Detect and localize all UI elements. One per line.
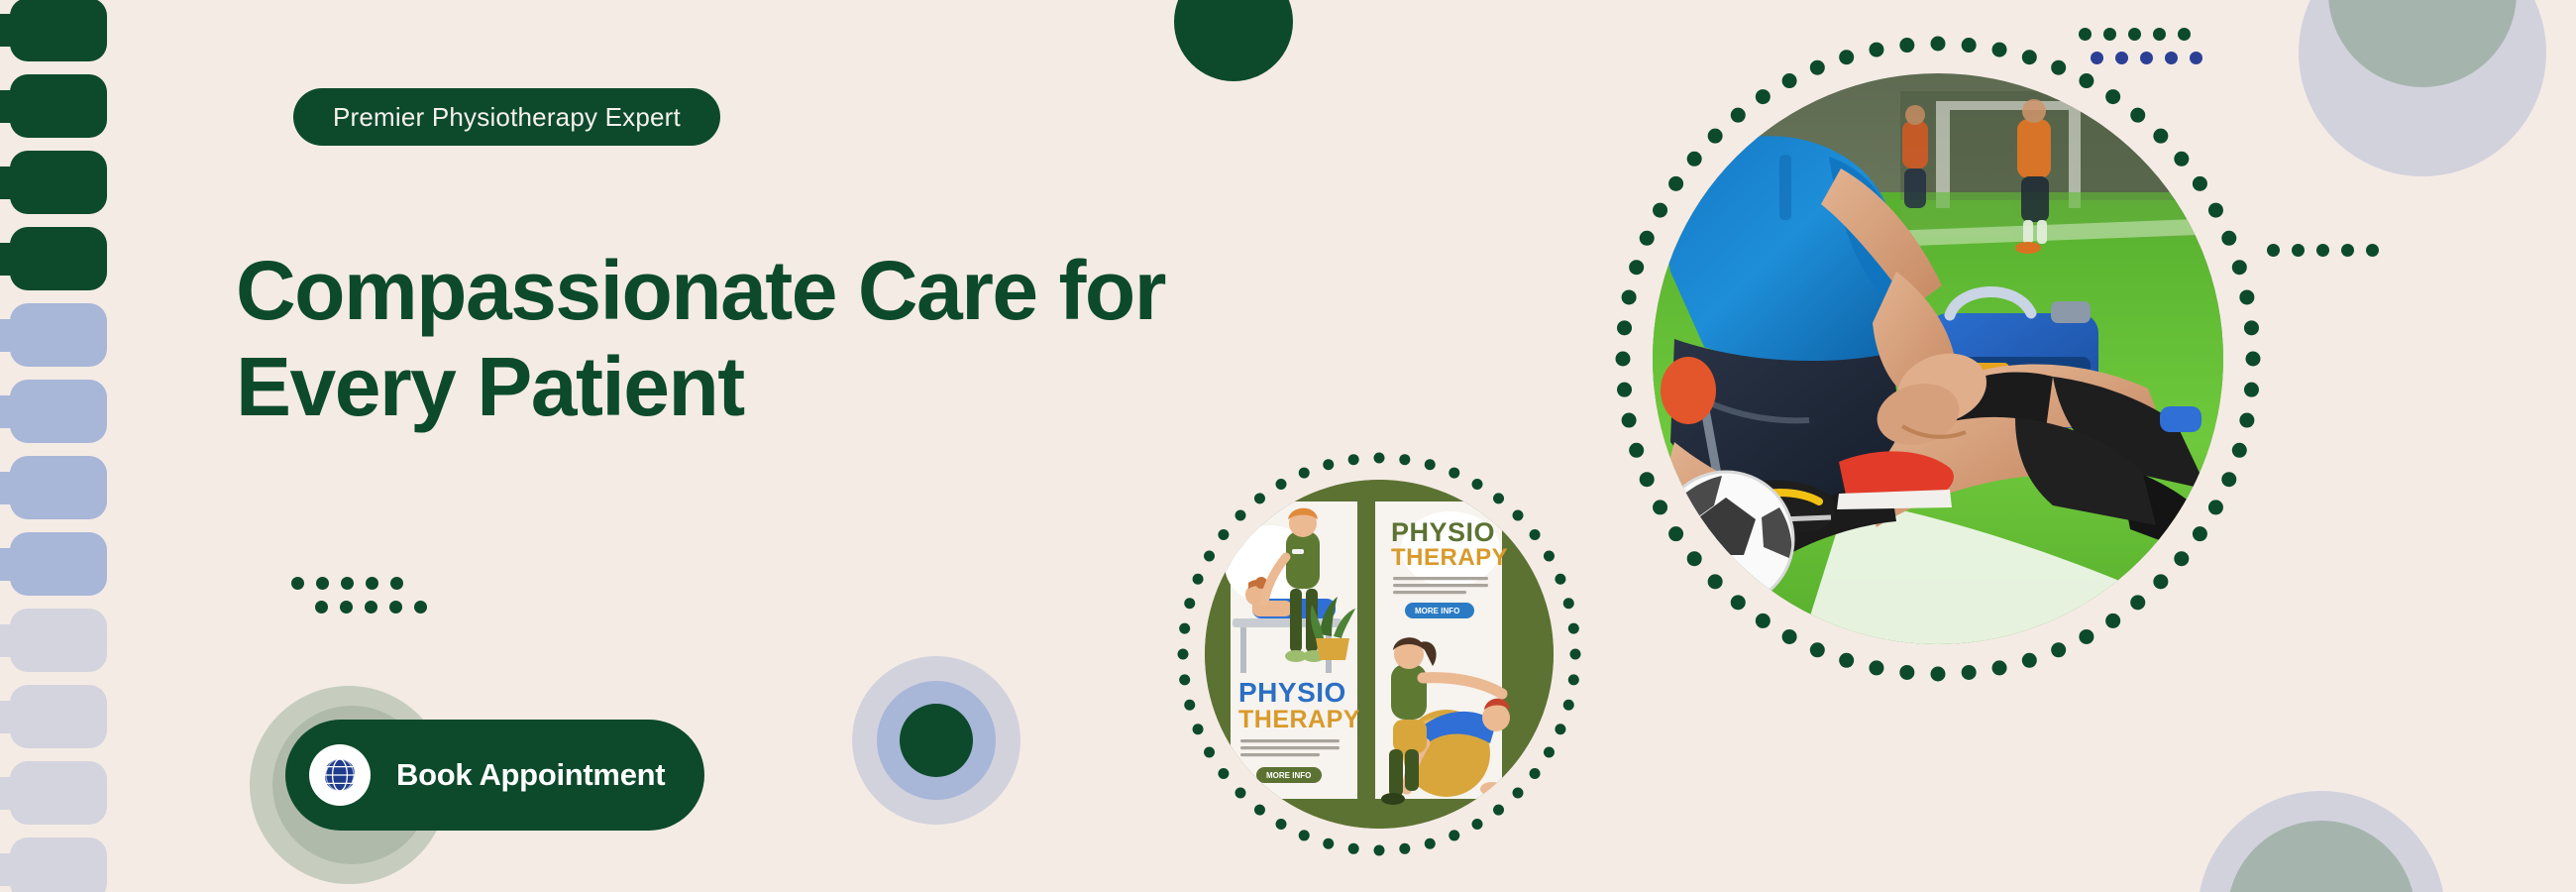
- dot-row: [291, 577, 403, 590]
- dot: [340, 601, 353, 613]
- dot: [390, 577, 403, 590]
- headline-line-1: Compassionate Care for: [236, 243, 1276, 339]
- dot: [2140, 52, 2153, 64]
- vertebra-segment: [0, 679, 107, 755]
- photo-small-image: PHYSIO THERAPY MORE INFO PHYSIO THERAP: [1205, 480, 1554, 829]
- vertebra-segment: [0, 526, 107, 603]
- vertebra-segment: [0, 297, 107, 374]
- dot: [2316, 244, 2329, 257]
- svg-text:THERAPY: THERAPY: [1391, 544, 1508, 571]
- hero-banner: Premier Physiotherapy Expert Compassiona…: [0, 0, 2576, 892]
- book-appointment-button[interactable]: Book Appointment: [285, 720, 704, 831]
- badge-label: Premier Physiotherapy Expert: [333, 102, 681, 133]
- dot: [291, 577, 304, 590]
- globe-icon: [309, 744, 371, 806]
- vertebra-segment: [0, 450, 107, 526]
- vertebra-segment: [0, 68, 107, 145]
- dot: [2190, 52, 2202, 64]
- dot: [2091, 52, 2103, 64]
- eyebrow-badge: Premier Physiotherapy Expert: [293, 88, 720, 146]
- dot: [2115, 52, 2128, 64]
- cta-label: Book Appointment: [396, 757, 665, 793]
- dot-row: [2267, 244, 2379, 257]
- vertebra-segment: [0, 832, 107, 892]
- vertebra-segment: [0, 603, 107, 679]
- vertebra-segment: [0, 221, 107, 297]
- photo-sports-physiotherapy: [1601, 22, 2275, 696]
- dot: [2267, 244, 2280, 257]
- svg-text:MORE INFO: MORE INFO: [1415, 607, 1459, 615]
- vertebra-segment: [0, 374, 107, 450]
- dot-row: [2091, 52, 2202, 64]
- dot: [315, 601, 328, 613]
- svg-text:THERAPY: THERAPY: [1238, 706, 1360, 733]
- headline-line-2: Every Patient: [236, 339, 1276, 435]
- dot: [366, 577, 378, 590]
- dot: [2128, 28, 2141, 41]
- vertebrae-spine-graphic: [0, 0, 107, 892]
- vertebra-segment: [0, 755, 107, 832]
- dot: [316, 577, 329, 590]
- page-title: Compassionate Care for Every Patient: [236, 243, 1276, 436]
- dot: [2153, 28, 2166, 41]
- dot: [2366, 244, 2379, 257]
- dot: [2079, 28, 2092, 41]
- circle-top-green: [1174, 0, 1293, 81]
- dot: [389, 601, 402, 613]
- dot: [2178, 28, 2191, 41]
- svg-text:MORE INFO: MORE INFO: [1266, 771, 1311, 780]
- dot-row: [2079, 28, 2191, 41]
- dot: [2103, 28, 2116, 41]
- vertebra-segment: [0, 145, 107, 221]
- dot: [2341, 244, 2354, 257]
- circle-target-core: [900, 704, 973, 777]
- dot: [341, 577, 354, 590]
- photo-main-image: [1653, 73, 2223, 644]
- dot: [414, 601, 427, 613]
- svg-text:PHYSIO: PHYSIO: [1238, 677, 1346, 708]
- photo-physio-posters: PHYSIO THERAPY MORE INFO PHYSIO THERAP: [1171, 446, 1587, 862]
- dot-row: [315, 601, 427, 613]
- vertebra-segment: [0, 0, 107, 68]
- svg-text:PHYSIO: PHYSIO: [1391, 517, 1495, 547]
- dot: [365, 601, 377, 613]
- dot: [2165, 52, 2178, 64]
- dot: [2292, 244, 2305, 257]
